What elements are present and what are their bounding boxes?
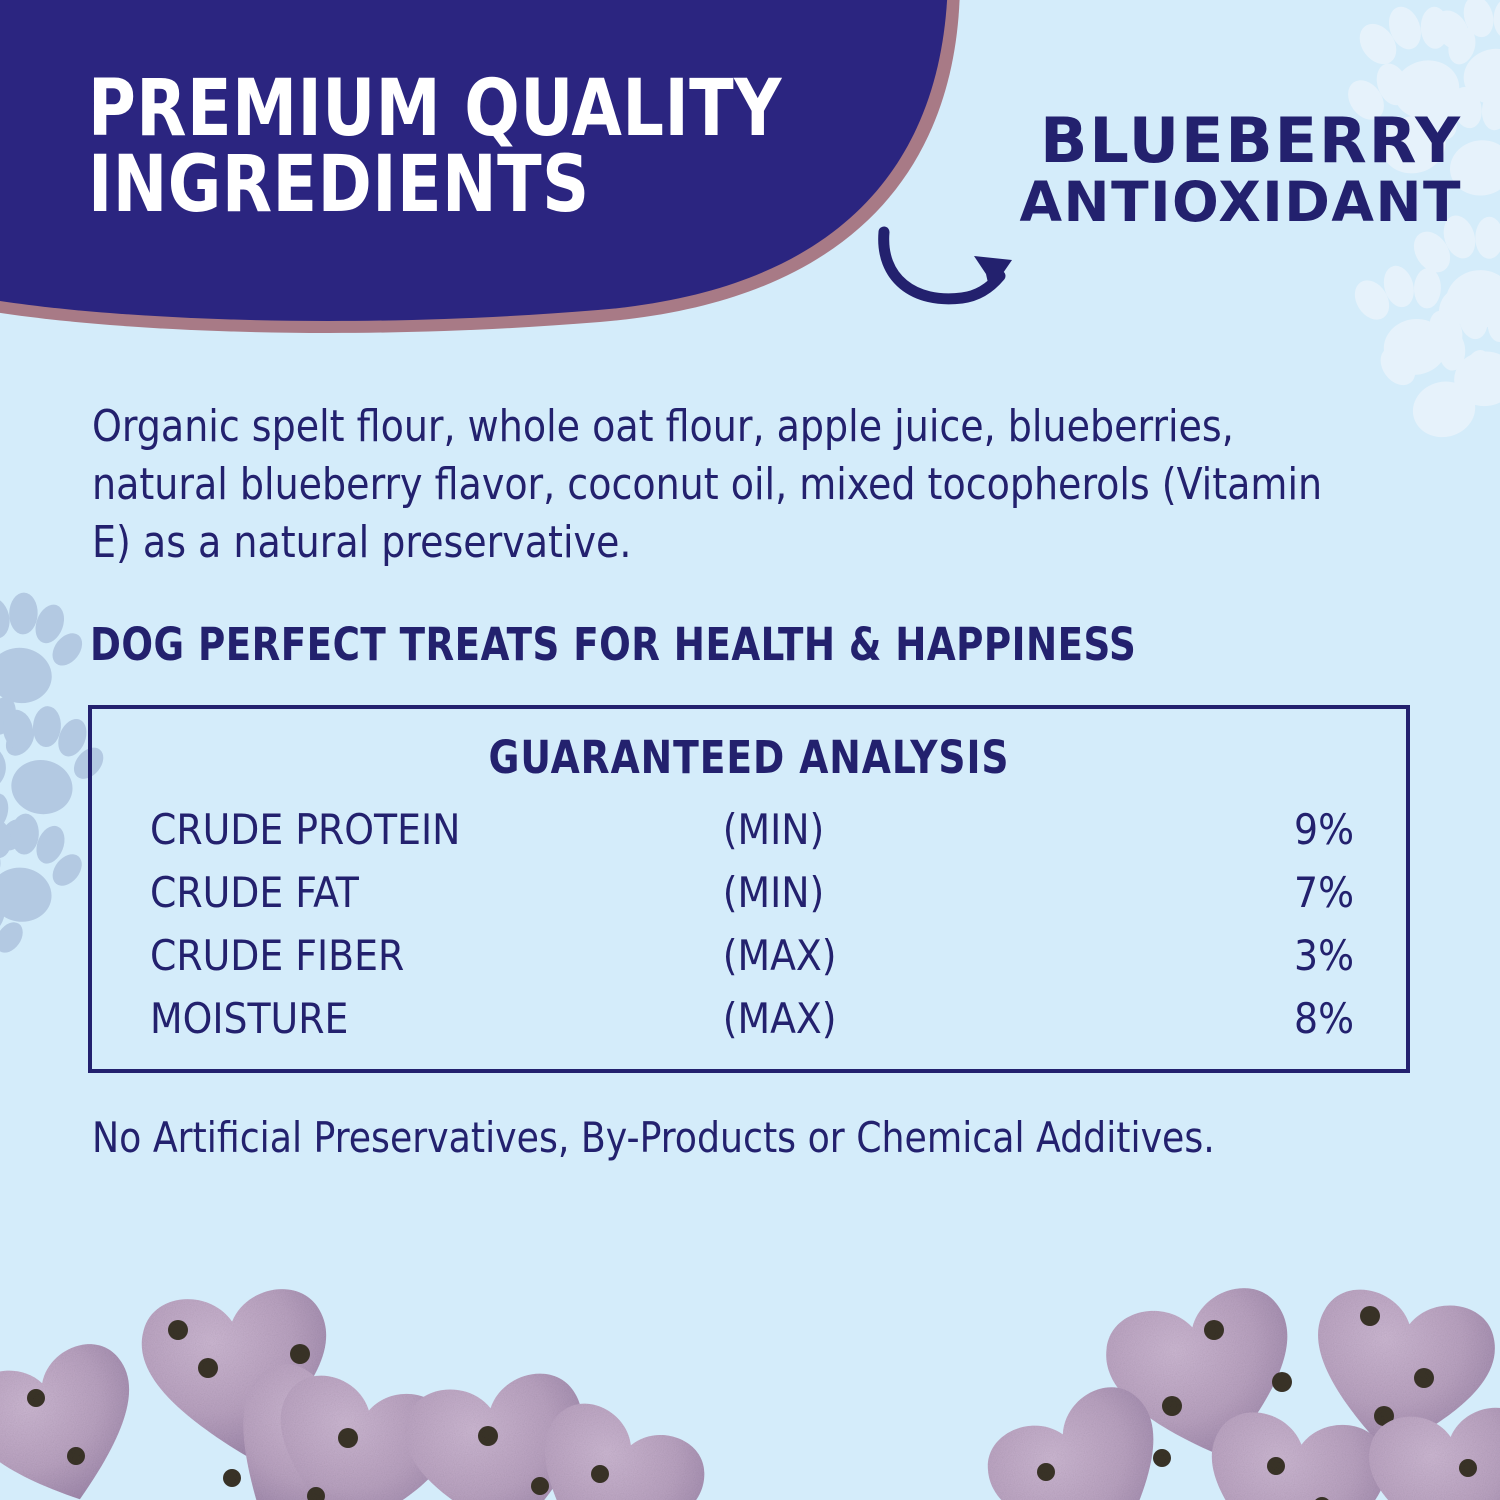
ingredients-text: Organic spelt flour, whole oat flour, ap… [92, 398, 1369, 572]
heart-treat-icon [194, 1349, 408, 1500]
heart-treat-icon [1299, 1283, 1500, 1468]
table-row: CRUDE FAT (MIN) 7% [92, 861, 1406, 924]
nutrient-value: 9% [1117, 798, 1406, 861]
page-title-line-2: INGREDIENTS [88, 148, 832, 224]
curved-arrow-icon [870, 222, 1030, 322]
heart-treat-icon [398, 1367, 600, 1500]
nutrient-value: 3% [1117, 924, 1406, 987]
heart-treat-icon [1365, 1404, 1500, 1500]
nutrient-name: CRUDE PROTEIN [92, 798, 723, 861]
nutrient-qualifier: (MIN) [723, 798, 1117, 861]
guaranteed-analysis-box: GUARANTEED ANALYSIS CRUDE PROTEIN (MIN) … [88, 705, 1410, 1073]
treat-photo-strip [0, 1210, 1500, 1500]
heart-treat-icon [1097, 1279, 1314, 1480]
no-additives-text: No Artificial Preservatives, By-Products… [92, 1113, 1369, 1162]
heart-treat-icon [974, 1374, 1196, 1500]
nutrient-value: 7% [1117, 861, 1406, 924]
table-row: CRUDE FIBER (MAX) 3% [92, 924, 1406, 987]
blueberry-antioxidant-callout: BLUEBERRY ANTIOXIDANT [862, 110, 1462, 234]
heart-treat-icon [137, 1285, 338, 1466]
table-row: CRUDE PROTEIN (MIN) 9% [92, 798, 1406, 861]
product-label-panel: PREMIUM QUALITY INGREDIENTS BLUEBERRY AN… [0, 0, 1500, 1500]
nutrient-name: CRUDE FIBER [92, 924, 723, 987]
heart-treat-icon [259, 1368, 458, 1500]
nutrient-qualifier: (MAX) [723, 987, 1117, 1050]
heart-treat-icon [1197, 1407, 1392, 1500]
tagline-text: DOG PERFECT TREATS FOR HEALTH & HAPPINES… [90, 618, 1286, 671]
table-row: MOISTURE (MAX) 8% [92, 987, 1406, 1050]
page-title-line-1: PREMIUM QUALITY [88, 72, 832, 148]
page-title: PREMIUM QUALITY INGREDIENTS [88, 72, 832, 223]
guaranteed-analysis-title: GUARANTEED ANALYSIS [138, 731, 1360, 784]
callout-line-1: BLUEBERRY [862, 110, 1462, 172]
nutrient-name: MOISTURE [92, 987, 723, 1050]
heart-treat-icon [0, 1334, 159, 1500]
nutrient-name: CRUDE FAT [92, 861, 723, 924]
guaranteed-analysis-table: CRUDE PROTEIN (MIN) 9% CRUDE FAT (MIN) 7… [92, 798, 1406, 1050]
nutrient-qualifier: (MIN) [723, 861, 1117, 924]
nutrient-qualifier: (MAX) [723, 924, 1117, 987]
heart-treat-icon [510, 1392, 716, 1500]
nutrient-value: 8% [1117, 987, 1406, 1050]
